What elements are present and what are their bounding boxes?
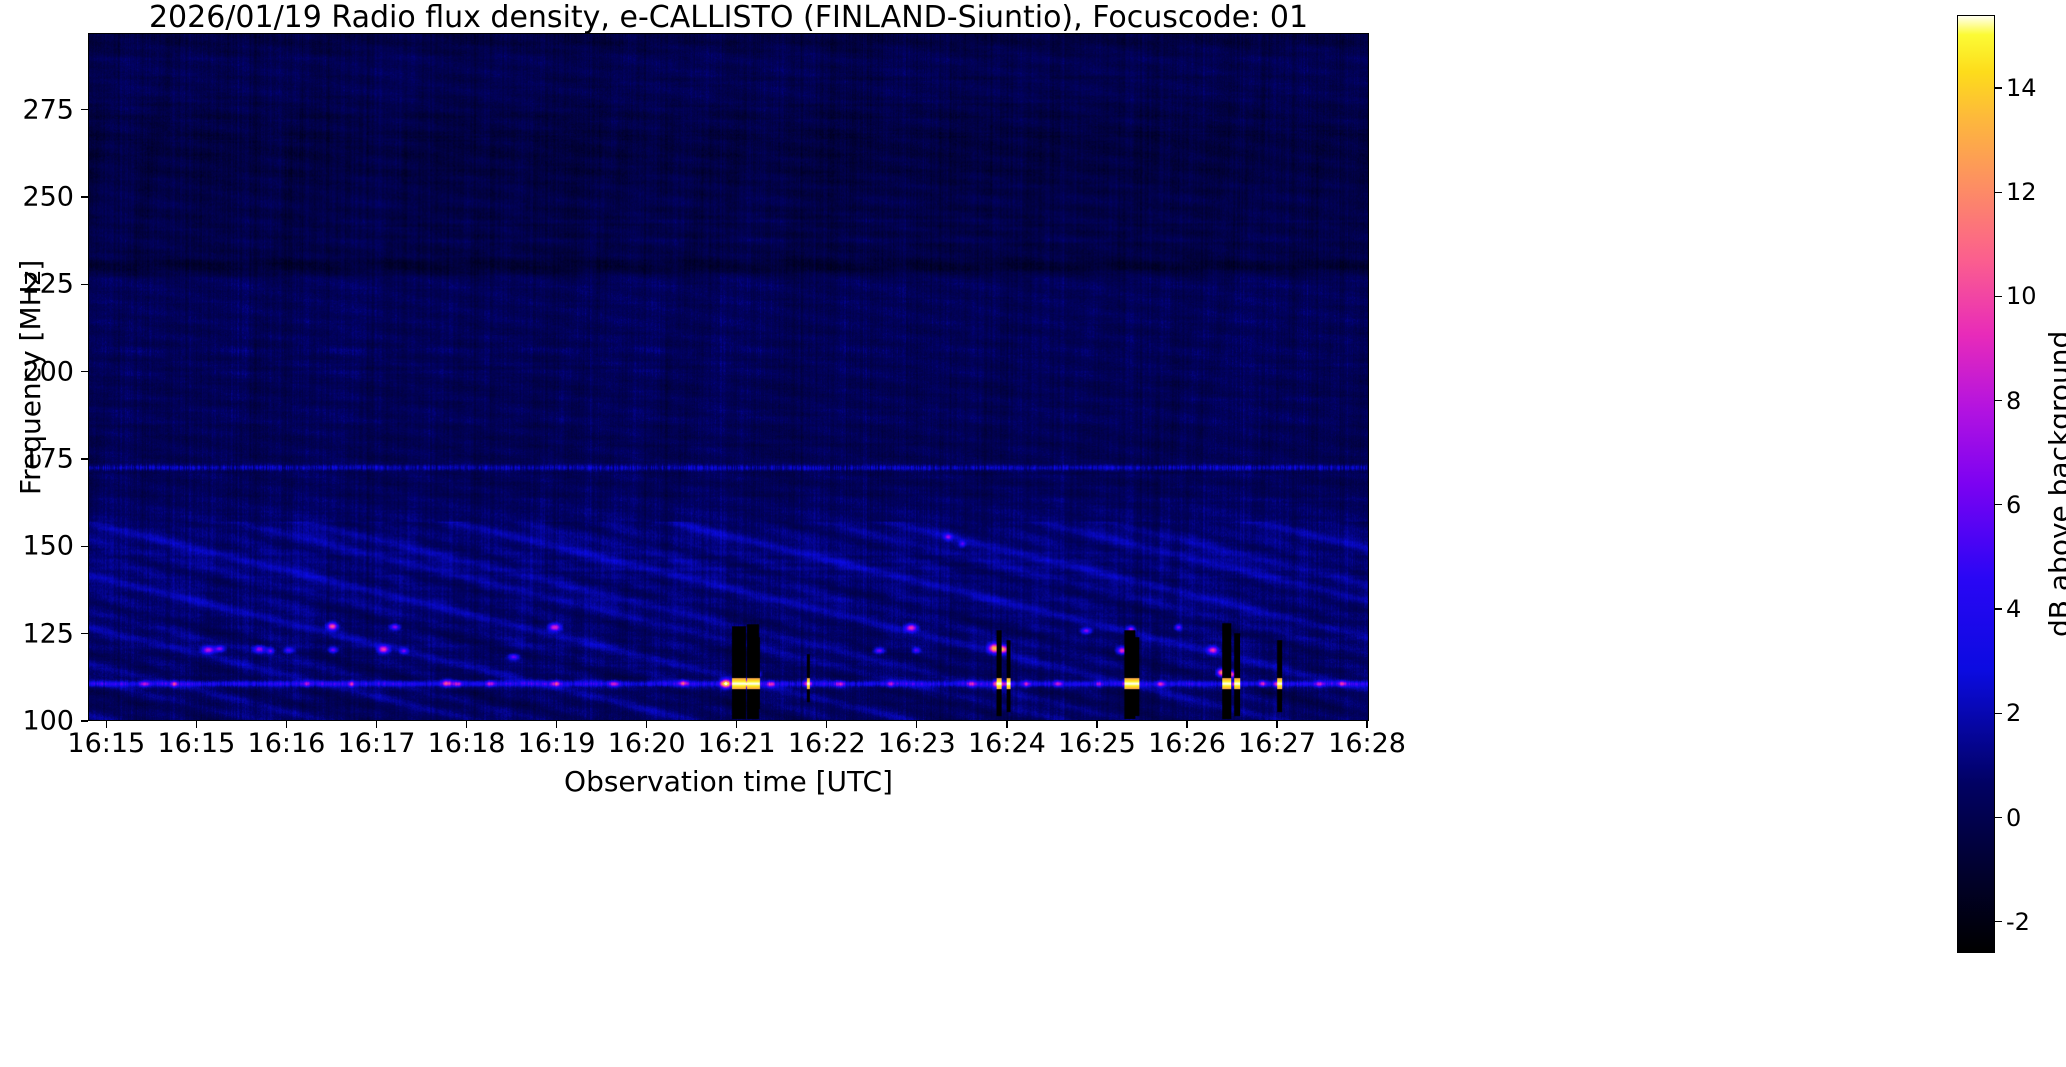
- y-tick-label: 200: [0, 356, 74, 387]
- x-tick-label: 16:20: [608, 728, 686, 759]
- x-tick-mark: [106, 721, 107, 728]
- colorbar-tick-label: 6: [2006, 491, 2021, 519]
- x-tick-mark: [556, 721, 557, 728]
- x-tick-label: 16:16: [248, 728, 326, 759]
- colorbar-label: dB above background: [2043, 331, 2066, 637]
- x-tick-mark: [1276, 721, 1277, 728]
- colorbar-tick-mark: [1995, 296, 2002, 297]
- y-tick-mark: [81, 109, 88, 110]
- colorbar-tick-label: 10: [2006, 282, 2037, 310]
- x-tick-label: 16:25: [1058, 728, 1136, 759]
- x-tick-label: 16:28: [1328, 728, 1406, 759]
- x-tick-mark: [736, 721, 737, 728]
- x-axis-label: Observation time [UTC]: [88, 765, 1369, 798]
- x-tick-mark: [466, 721, 467, 728]
- colorbar-tick-label: -2: [2006, 908, 2030, 936]
- colorbar-tick-mark: [1995, 713, 2002, 714]
- x-tick-mark: [1096, 721, 1097, 728]
- y-tick-label: 250: [0, 182, 74, 213]
- y-tick-mark: [81, 371, 88, 372]
- x-tick-mark: [196, 721, 197, 728]
- x-tick-mark: [1366, 721, 1367, 728]
- x-tick-mark: [916, 721, 917, 728]
- colorbar-tick-label: 8: [2006, 387, 2021, 415]
- x-tick-label: 16:22: [788, 728, 866, 759]
- colorbar-tick-mark: [1995, 504, 2002, 505]
- page-title: 2026/01/19 Radio flux density, e-CALLIST…: [88, 2, 1369, 34]
- y-tick-mark: [81, 546, 88, 547]
- y-tick-mark: [81, 196, 88, 197]
- y-tick-label: 125: [0, 618, 74, 649]
- x-tick-label: 16:18: [428, 728, 506, 759]
- x-tick-label: 16:27: [1238, 728, 1316, 759]
- colorbar-tick-mark: [1995, 400, 2002, 401]
- y-tick-label: 275: [0, 94, 74, 125]
- x-tick-mark: [646, 721, 647, 728]
- y-tick-label: 100: [0, 706, 74, 737]
- colorbar-tick-label: 14: [2006, 74, 2037, 102]
- colorbar-gradient: [1958, 16, 1994, 952]
- x-tick-label: 16:15: [157, 728, 235, 759]
- y-tick-mark: [81, 633, 88, 634]
- y-tick-mark: [81, 284, 88, 285]
- x-tick-label: 16:21: [698, 728, 776, 759]
- colorbar-tick-label: 2: [2006, 699, 2021, 727]
- x-tick-label: 16:19: [518, 728, 596, 759]
- y-tick-mark: [81, 720, 88, 721]
- colorbar-tick-mark: [1995, 608, 2002, 609]
- x-tick-mark: [1006, 721, 1007, 728]
- colorbar-tick-mark: [1995, 817, 2002, 818]
- x-tick-label: 16:24: [968, 728, 1046, 759]
- colorbar-tick-mark: [1995, 192, 2002, 193]
- x-tick-mark: [1186, 721, 1187, 728]
- colorbar-tick-mark: [1995, 921, 2002, 922]
- x-tick-mark: [286, 721, 287, 728]
- dynamic-spectrum-canvas: [89, 34, 1368, 720]
- y-tick-label: 150: [0, 531, 74, 562]
- y-tick-label: 175: [0, 444, 74, 475]
- y-tick-mark: [81, 458, 88, 459]
- spectrogram-figure: 2026/01/19 Radio flux density, e-CALLIST…: [0, 0, 2066, 1067]
- x-tick-mark: [376, 721, 377, 728]
- colorbar-tick-label: 0: [2006, 804, 2021, 832]
- y-tick-label: 225: [0, 269, 74, 300]
- x-tick-label: 16:23: [878, 728, 956, 759]
- colorbar: [1957, 15, 1995, 953]
- colorbar-tick-label: 4: [2006, 595, 2021, 623]
- plot-area: [88, 33, 1369, 721]
- x-tick-mark: [826, 721, 827, 728]
- colorbar-tick-mark: [1995, 87, 2002, 88]
- x-tick-label: 16:26: [1148, 728, 1226, 759]
- x-tick-label: 16:17: [338, 728, 416, 759]
- colorbar-tick-label: 12: [2006, 178, 2037, 206]
- x-tick-label: 16:15: [67, 728, 145, 759]
